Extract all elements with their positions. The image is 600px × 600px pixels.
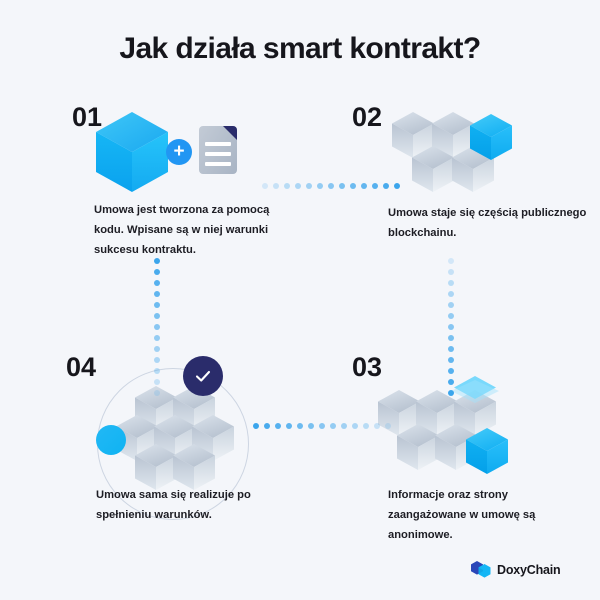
step-02-number: 02: [352, 102, 382, 133]
connector-dot: [361, 183, 367, 189]
step-03-text: Informacje oraz strony zaangażowane w um…: [388, 485, 588, 545]
logo[interactable]: DoxyChain: [471, 561, 561, 578]
plus-icon: +: [166, 139, 192, 165]
connector-dot: [448, 291, 454, 297]
connector-dot: [154, 379, 160, 385]
step-04-artwork: [116, 386, 234, 490]
connector-dot: [308, 423, 314, 429]
step-02-artwork: [382, 112, 514, 202]
connector-dot: [253, 423, 259, 429]
connector-dot: [448, 390, 454, 396]
connector-02-to-03: [447, 258, 454, 396]
connector-dot: [154, 346, 160, 352]
connector-dot: [295, 183, 301, 189]
hexagon-flower-icon: [116, 386, 234, 490]
document-line: [205, 142, 231, 146]
cube-icon: [96, 112, 168, 192]
connector-03-to-04: [253, 422, 391, 429]
step-01-text: Umowa jest tworzona za pomocą kodu. Wpis…: [94, 200, 294, 260]
connector-dot: [448, 357, 454, 363]
connector-dot: [154, 302, 160, 308]
lifted-face-icon: [451, 376, 499, 403]
connector-dot: [286, 423, 292, 429]
connector-dot: [154, 291, 160, 297]
connector-dot: [374, 423, 380, 429]
connector-dot: [273, 183, 279, 189]
infographic-canvas: Jak działa smart kontrakt? 01: [0, 0, 600, 600]
connector-dot: [448, 346, 454, 352]
connector-dot: [306, 183, 312, 189]
connector-dot: [341, 423, 347, 429]
step-02-text: Umowa staje się częścią publicznego bloc…: [388, 203, 588, 243]
connector-dot: [363, 423, 369, 429]
connector-01-to-02: [262, 182, 400, 189]
connector-dot: [154, 313, 160, 319]
document-line: [205, 152, 231, 156]
connector-dot: [262, 183, 268, 189]
step-03-number: 03: [352, 352, 382, 383]
step-01-artwork: [96, 112, 168, 192]
check-badge-icon: [183, 356, 223, 396]
connector-dot: [154, 258, 160, 264]
connector-dot: [154, 390, 160, 396]
connector-dot: [154, 324, 160, 330]
connector-dot: [385, 423, 391, 429]
connector-dot: [154, 368, 160, 374]
hexagon-cluster-icon: [378, 382, 518, 482]
step-03-artwork: [378, 382, 518, 482]
check-icon: [193, 366, 213, 386]
document-line: [205, 162, 231, 166]
connector-dot: [330, 423, 336, 429]
step-04-number: 04: [66, 352, 96, 383]
hexagon-cluster-icon: [382, 112, 514, 202]
document-fold: [223, 126, 237, 140]
connector-dot: [394, 183, 400, 189]
connector-dot: [383, 183, 389, 189]
connector-dot: [448, 324, 454, 330]
document-icon: [199, 126, 237, 174]
connector-dot: [154, 280, 160, 286]
connector-dot: [317, 183, 323, 189]
connector-dot: [154, 357, 160, 363]
connector-dot: [154, 269, 160, 275]
connector-dot: [264, 423, 270, 429]
connector-dot: [154, 335, 160, 341]
connector-dot: [448, 313, 454, 319]
connector-dot: [328, 183, 334, 189]
connector-dot: [448, 269, 454, 275]
connector-dot: [448, 379, 454, 385]
step-04-text: Umowa sama się realizuje po spełnieniu w…: [96, 485, 296, 525]
connector-dot: [352, 423, 358, 429]
connector-dot: [448, 335, 454, 341]
logo-text: DoxyChain: [497, 563, 561, 577]
connector-dot: [448, 258, 454, 264]
connector-dot: [319, 423, 325, 429]
connector-dot: [339, 183, 345, 189]
cube-logo-icon: [471, 561, 491, 578]
connector-dot: [448, 280, 454, 286]
page-title: Jak działa smart kontrakt?: [0, 32, 600, 66]
connector-04-to-01: [153, 258, 160, 396]
connector-dot: [372, 183, 378, 189]
blue-dot-icon: [96, 425, 126, 455]
connector-dot: [350, 183, 356, 189]
connector-dot: [448, 302, 454, 308]
connector-dot: [275, 423, 281, 429]
connector-dot: [284, 183, 290, 189]
connector-dot: [297, 423, 303, 429]
connector-dot: [448, 368, 454, 374]
plus-glyph: +: [173, 142, 184, 161]
